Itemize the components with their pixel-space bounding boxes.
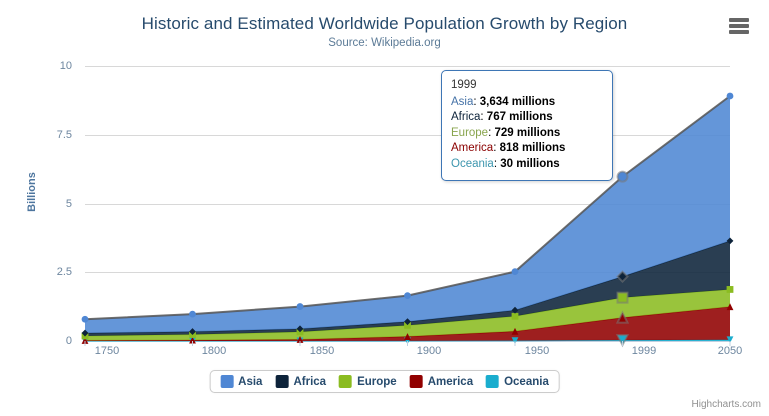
tooltip-series-name: Europe [451, 127, 488, 139]
x-tick-label: 1850 [292, 345, 352, 357]
legend-swatch-icon [410, 375, 423, 388]
legend-swatch-icon [486, 375, 499, 388]
chart-tooltip: 1999 Asia: 3,634 millions Africa: 767 mi… [441, 70, 613, 181]
data-point-europe-2050[interactable] [727, 286, 734, 293]
tooltip-row-europe: Europe: 729 millions [451, 126, 603, 142]
tooltip-row-oceania: Oceania: 30 millions [451, 157, 603, 173]
x-tick-label: 1750 [77, 345, 137, 357]
tooltip-row-america: America: 818 millions [451, 141, 603, 157]
legend-label: America [428, 376, 473, 388]
data-point-asia-2050[interactable] [727, 93, 734, 100]
x-tick-label: 1950 [507, 345, 567, 357]
tooltip-series-value: 729 millions [494, 127, 560, 139]
legend-label: Asia [238, 376, 262, 388]
tooltip-row-africa: Africa: 767 millions [451, 110, 603, 126]
tooltip-series-name: Africa [451, 111, 480, 123]
tooltip-series-name: Oceania [451, 158, 494, 170]
tooltip-series-value: 3,634 millions [480, 96, 555, 108]
legend-label: Africa [293, 376, 326, 388]
x-tick-label: 1999 [614, 345, 674, 357]
x-tick-label: 1900 [399, 345, 459, 357]
legend-label: Europe [357, 376, 397, 388]
legend-label: Oceania [504, 376, 549, 388]
tooltip-series-value: 767 millions [487, 111, 553, 123]
legend-item-oceania[interactable]: Oceania [486, 375, 549, 388]
data-point-asia-1850[interactable] [297, 303, 304, 310]
legend-swatch-icon [339, 375, 352, 388]
legend-item-europe[interactable]: Europe [339, 375, 397, 388]
data-point-europe-1999[interactable] [618, 293, 628, 303]
tooltip-series-value: 30 millions [500, 158, 559, 170]
x-tick-label: 2050 [700, 345, 760, 357]
data-point-europe-1950[interactable] [512, 313, 519, 320]
tooltip-series-value: 818 millions [500, 142, 566, 154]
data-point-asia-1800[interactable] [189, 311, 196, 318]
x-tick-label: 1800 [184, 345, 244, 357]
tooltip-series-name: Asia [451, 96, 473, 108]
legend-swatch-icon [220, 375, 233, 388]
chart-legend: Asia Africa Europe America Oceania [209, 370, 560, 393]
tooltip-series-name: America [451, 142, 493, 154]
legend-item-africa[interactable]: Africa [275, 375, 326, 388]
chart-container: Historic and Estimated Worldwide Populat… [0, 0, 769, 416]
legend-item-asia[interactable]: Asia [220, 375, 262, 388]
data-point-asia-1950[interactable] [512, 268, 519, 275]
legend-item-america[interactable]: America [410, 375, 473, 388]
legend-swatch-icon [275, 375, 288, 388]
data-point-asia-1900[interactable] [404, 292, 411, 299]
tooltip-header: 1999 [451, 78, 603, 94]
tooltip-row-asia: Asia: 3,634 millions [451, 95, 603, 111]
data-point-asia-1999[interactable] [618, 172, 628, 182]
highcharts-credit[interactable]: Highcharts.com [692, 399, 761, 410]
data-point-asia-1750[interactable] [82, 316, 89, 323]
